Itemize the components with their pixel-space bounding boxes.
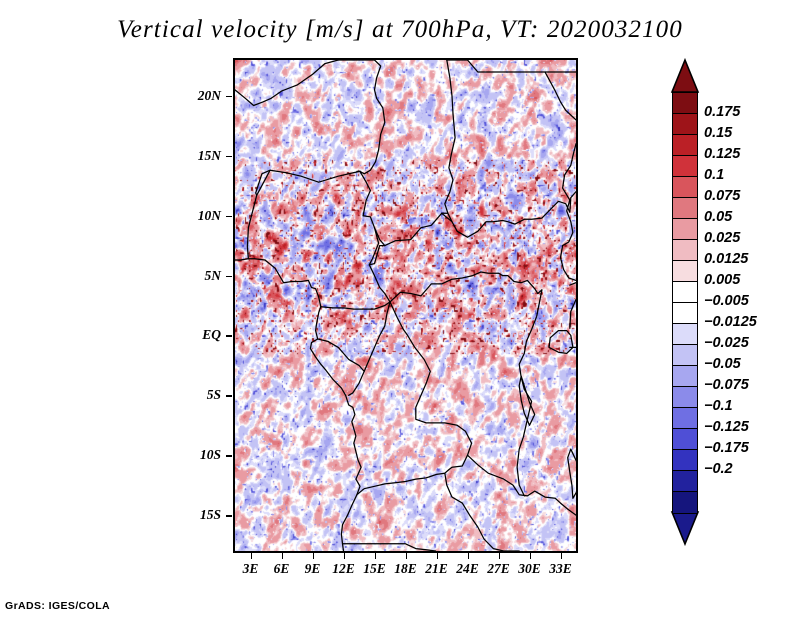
x-axis-tick [344, 553, 346, 559]
border-polyline [519, 376, 535, 425]
y-axis-label: 10N [175, 208, 221, 224]
colorbar-tick-label: −0.175 [704, 440, 749, 456]
border-polyline [235, 60, 338, 106]
x-axis-tick [561, 553, 563, 559]
y-axis-label: 20N [175, 88, 221, 104]
map-plot-area [233, 58, 578, 553]
y-axis-tick [226, 216, 232, 218]
y-axis-label: 15N [175, 148, 221, 164]
colorbar: 0.1750.150.1250.10.0750.050.0250.01250.0… [668, 58, 800, 558]
border-polyline [445, 60, 503, 237]
colorbar-swatch [672, 176, 698, 199]
colorbar-tick-label: 0.175 [704, 104, 740, 120]
border-polyline [468, 455, 577, 515]
x-axis-tick [251, 553, 253, 559]
colorbar-tick-label: −0.005 [704, 293, 749, 309]
y-axis-label: EQ [175, 327, 221, 343]
x-axis-tick [530, 553, 532, 559]
y-axis-tick [226, 96, 232, 98]
x-axis-tick [437, 553, 439, 559]
colorbar-tick-label: 0.15 [704, 125, 732, 141]
colorbar-tick-label: 0.0125 [704, 251, 748, 267]
y-axis-label: 5S [175, 387, 221, 403]
colorbar-swatch [672, 302, 698, 325]
y-axis-tick [226, 515, 232, 517]
colorbar-tick-label: −0.05 [704, 356, 741, 372]
border-polyline [503, 201, 570, 224]
colorbar-swatch [672, 113, 698, 136]
x-axis-tick [375, 553, 377, 559]
y-axis-tick [226, 455, 232, 457]
border-polyline [338, 60, 385, 174]
colorbar-tick-label: 0.005 [704, 272, 740, 288]
colorbar-tick-label: −0.2 [704, 461, 733, 477]
x-axis-tick [499, 553, 501, 559]
border-polyline [570, 192, 576, 212]
colorbar-swatch [672, 197, 698, 220]
border-polyline [360, 171, 503, 302]
colorbar-swatch [672, 218, 698, 241]
country-borders-overlay [235, 60, 576, 551]
colorbar-swatch [672, 449, 698, 472]
colorbar-swatch [672, 407, 698, 430]
colorbar-swatch [672, 281, 698, 304]
colorbar-swatch [672, 260, 698, 283]
colorbar-swatch [672, 344, 698, 367]
border-polyline [318, 339, 365, 371]
colorbar-swatch [672, 365, 698, 388]
colorbar-swatch [672, 155, 698, 178]
page-title: Vertical velocity [m/s] at 700hPa, VT: 2… [0, 16, 800, 44]
colorbar-tick-label: −0.125 [704, 419, 749, 435]
border-polyline [247, 170, 360, 259]
colorbar-tick-label: 0.125 [704, 146, 740, 162]
x-axis-tick [406, 553, 408, 559]
border-polyline [357, 302, 472, 495]
border-polyline [349, 302, 390, 395]
border-polyline [385, 213, 448, 245]
x-axis-tick [313, 553, 315, 559]
border-polyline [568, 449, 576, 498]
colorbar-tick-label: −0.1 [704, 398, 733, 414]
y-axis-tick [226, 395, 232, 397]
border-polyline [545, 72, 576, 120]
colorbar-swatch [672, 386, 698, 409]
y-axis-label: 15S [175, 507, 221, 523]
colorbar-swatch [672, 239, 698, 262]
colorbar-tick-label: −0.025 [704, 335, 749, 351]
colorbar-tick-label: −0.075 [704, 377, 749, 393]
colorbar-tick-label: 0.1 [704, 167, 724, 183]
border-polyline [343, 544, 436, 551]
colorbar-tick-label: 0.05 [704, 209, 732, 225]
border-polyline [375, 228, 385, 246]
border-polyline [549, 331, 573, 354]
x-axis-tick [468, 553, 470, 559]
colorbar-max-arrow [672, 60, 698, 92]
colorbar-swatch [672, 470, 698, 493]
x-axis-label: 33E [541, 561, 581, 577]
border-polyline [447, 60, 576, 72]
y-axis-tick [226, 335, 232, 337]
grads-credit: GrADS: IGES/COLA [5, 600, 110, 612]
colorbar-swatch [672, 428, 698, 451]
y-axis-tick [226, 276, 232, 278]
colorbar-min-arrow [672, 512, 698, 544]
colorbar-swatch [672, 491, 698, 514]
colorbar-tick-label: 0.075 [704, 188, 740, 204]
colorbar-swatch [672, 323, 698, 346]
x-axis-tick [282, 553, 284, 559]
y-axis-tick [226, 156, 232, 158]
y-axis-label: 10S [175, 447, 221, 463]
border-polyline [445, 473, 519, 551]
border-polyline [235, 259, 248, 260]
colorbar-swatch [672, 134, 698, 157]
border-polyline [570, 283, 576, 285]
colorbar-tick-label: 0.025 [704, 230, 740, 246]
y-axis-label: 5N [175, 268, 221, 284]
border-polyline [503, 276, 542, 294]
colorbar-tick-label: −0.0125 [704, 314, 757, 330]
border-polyline [248, 259, 361, 551]
border-polyline [561, 144, 577, 281]
colorbar-swatch [672, 92, 698, 115]
border-polyline [321, 302, 390, 309]
border-polyline [570, 300, 576, 329]
